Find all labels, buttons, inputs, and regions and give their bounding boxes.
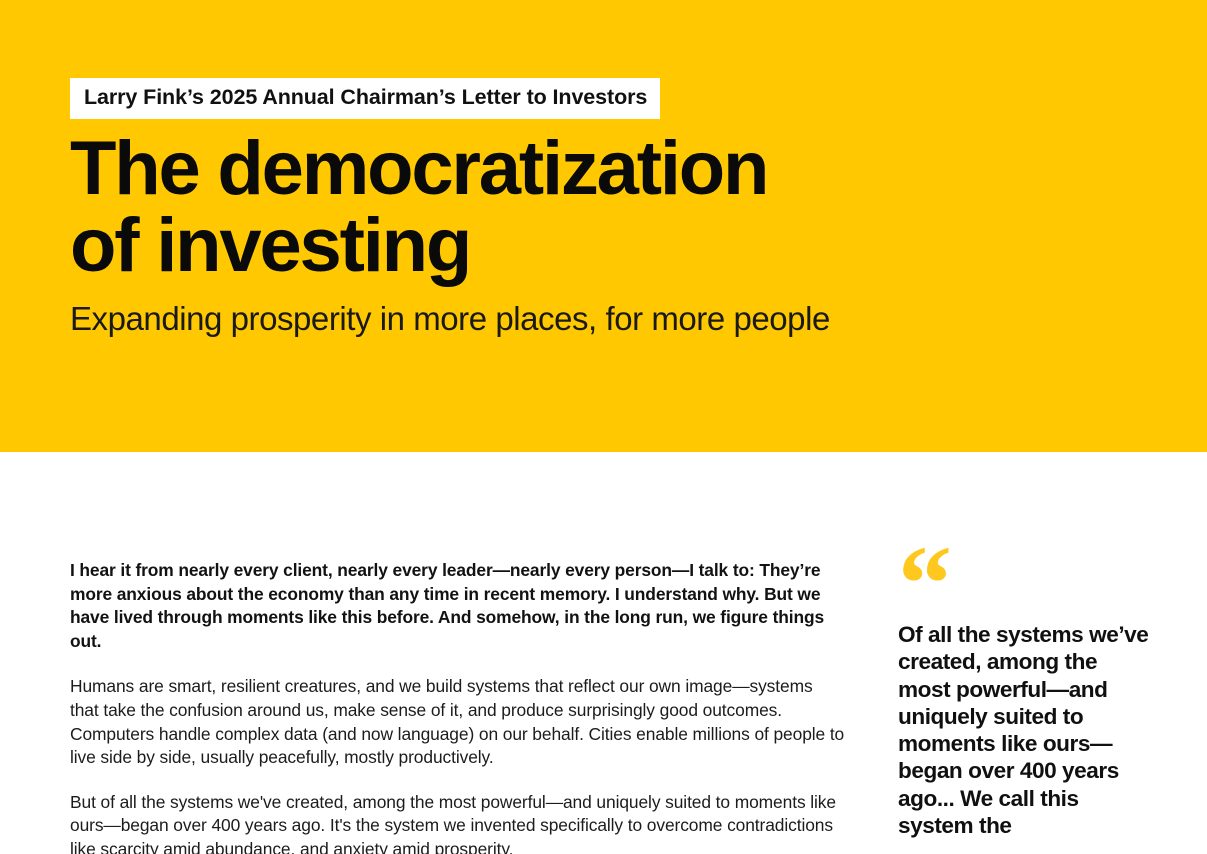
article-paragraph: Humans are smart, resilient creatures, a… bbox=[70, 675, 845, 769]
hero-banner: Larry Fink’s 2025 Annual Chairman’s Lett… bbox=[0, 0, 1207, 452]
quotation-mark-icon: “ bbox=[898, 552, 1150, 610]
eyebrow-container: Larry Fink’s 2025 Annual Chairman’s Lett… bbox=[70, 78, 660, 119]
page-subtitle: Expanding prosperity in more places, for… bbox=[70, 300, 1120, 338]
article-lede-paragraph: I hear it from nearly every client, near… bbox=[70, 559, 845, 653]
pull-quote-column: “ Of all the systems we’ve created, amon… bbox=[898, 552, 1150, 839]
article-content: I hear it from nearly every client, near… bbox=[0, 452, 1207, 854]
pull-quote-text: Of all the systems we’ve created, among … bbox=[898, 621, 1150, 839]
letter-page: Larry Fink’s 2025 Annual Chairman’s Lett… bbox=[0, 0, 1207, 854]
article-main-column: I hear it from nearly every client, near… bbox=[70, 559, 845, 854]
letter-eyebrow-label: Larry Fink’s 2025 Annual Chairman’s Lett… bbox=[70, 78, 660, 119]
page-title: The democratization of investing bbox=[70, 130, 1070, 284]
article-paragraph: But of all the systems we've created, am… bbox=[70, 791, 845, 854]
